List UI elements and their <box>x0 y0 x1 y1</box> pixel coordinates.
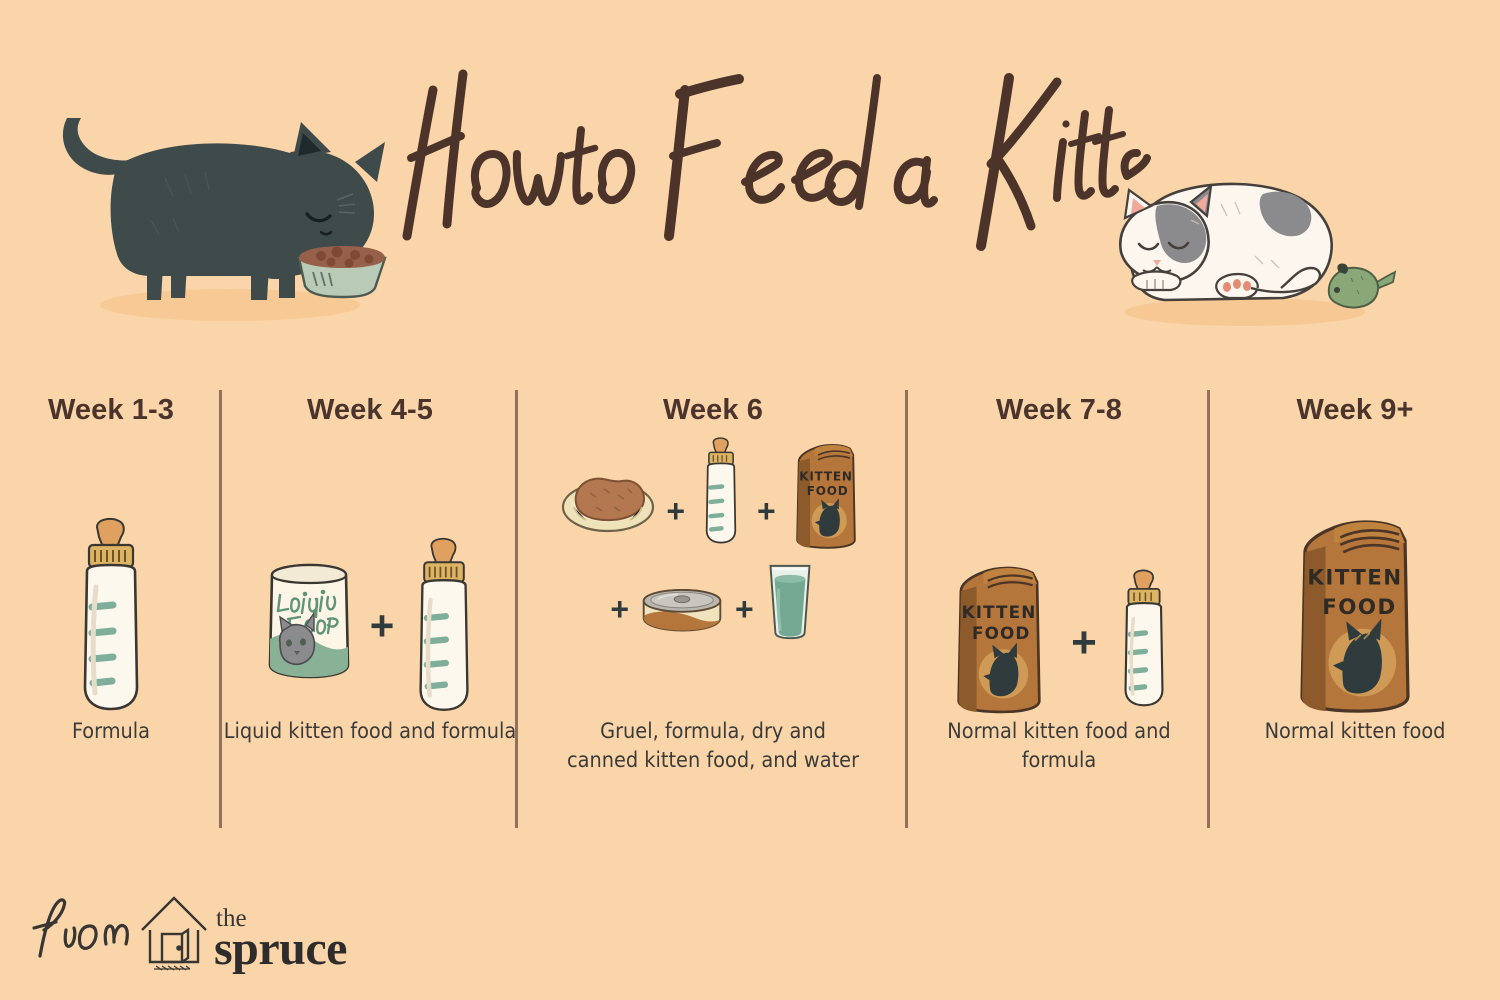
house-icon <box>142 898 206 970</box>
plus-operator: + <box>1071 621 1097 665</box>
column-caption: Normal kitten food <box>1265 717 1446 746</box>
sleeping-white-cat-icon <box>1095 160 1395 330</box>
infographic-root: Week 1-3 <box>0 0 1500 1000</box>
page-title <box>385 60 1145 260</box>
kitten-food-bag-icon: KITTEN FOOD <box>1275 511 1435 717</box>
column-heading: Week 1-3 <box>48 394 174 427</box>
column-heading: Week 6 <box>663 394 763 427</box>
page-title-lettering <box>385 60 1145 260</box>
baby-bottle-icon <box>1113 569 1175 711</box>
column-week-7-8: Week 7-8 KITTEN FOOD <box>908 378 1210 828</box>
liquid-food-can-icon <box>260 561 356 683</box>
column-caption: Normal kitten food and formula <box>908 717 1210 775</box>
plus-operator: + <box>666 495 685 527</box>
plus-operator: + <box>370 605 395 647</box>
column-illustrations: KITTEN FOOD <box>1210 427 1500 717</box>
bag-label-line2: FOOD <box>1322 595 1396 620</box>
weekly-feeding-columns: Week 1-3 <box>0 378 1500 828</box>
baby-bottle-icon <box>695 437 747 547</box>
column-week-9-plus: Week 9+ KITTEN FOOD <box>1210 378 1500 828</box>
black-kitten-icon <box>55 100 395 330</box>
bag-label-line1: KITTEN <box>962 602 1037 622</box>
plus-operator: + <box>757 495 776 527</box>
black-kitten-eating-from-bowl-illustration <box>55 100 395 330</box>
column-illustrations: + <box>222 427 518 717</box>
column-heading: Week 4-5 <box>307 394 433 427</box>
kitten-food-bag-icon: KITTEN FOOD <box>786 439 866 551</box>
bag-label-line1: KITTEN <box>1307 566 1402 591</box>
column-illustrations: KITTEN FOOD + <box>908 427 1210 717</box>
spruce-logo-svg: from the spruce <box>30 890 370 970</box>
water-glass-icon <box>764 561 816 639</box>
spruce-logo[interactable]: from the spruce <box>30 890 370 970</box>
column-caption: Formula <box>72 717 150 746</box>
from-label <box>34 900 127 956</box>
brand-name-label: spruce <box>214 922 347 975</box>
bag-label-line1: KITTEN <box>799 470 852 484</box>
column-caption: Liquid kitten food and formula <box>224 717 517 746</box>
column-week-6: Week 6 <box>518 378 908 828</box>
column-heading: Week 7-8 <box>996 394 1122 427</box>
baby-bottle-icon <box>71 517 151 717</box>
kitten-food-bag-icon: KITTEN FOOD <box>943 559 1055 717</box>
column-illustrations <box>0 427 222 717</box>
canned-food-icon <box>639 583 725 639</box>
column-caption: Gruel, formula, dry and canned kitten fo… <box>563 717 863 775</box>
column-heading: Week 9+ <box>1296 394 1413 427</box>
baby-bottle-icon <box>408 537 480 717</box>
gruel-plate-icon <box>560 455 656 535</box>
bag-label-line2: FOOD <box>806 484 848 498</box>
column-week-4-5: Week 4-5 <box>222 378 518 828</box>
toy-mouse-icon <box>1329 263 1395 307</box>
sleeping-white-cat-illustration <box>1095 160 1395 330</box>
column-week-1-3: Week 1-3 <box>0 378 222 828</box>
plus-operator: + <box>735 593 754 625</box>
column-illustrations: + + <box>518 427 908 717</box>
bag-label-line2: FOOD <box>972 623 1030 643</box>
plus-operator: + <box>610 593 629 625</box>
from-label-text: from <box>40 959 41 960</box>
hero-section <box>0 0 1500 370</box>
